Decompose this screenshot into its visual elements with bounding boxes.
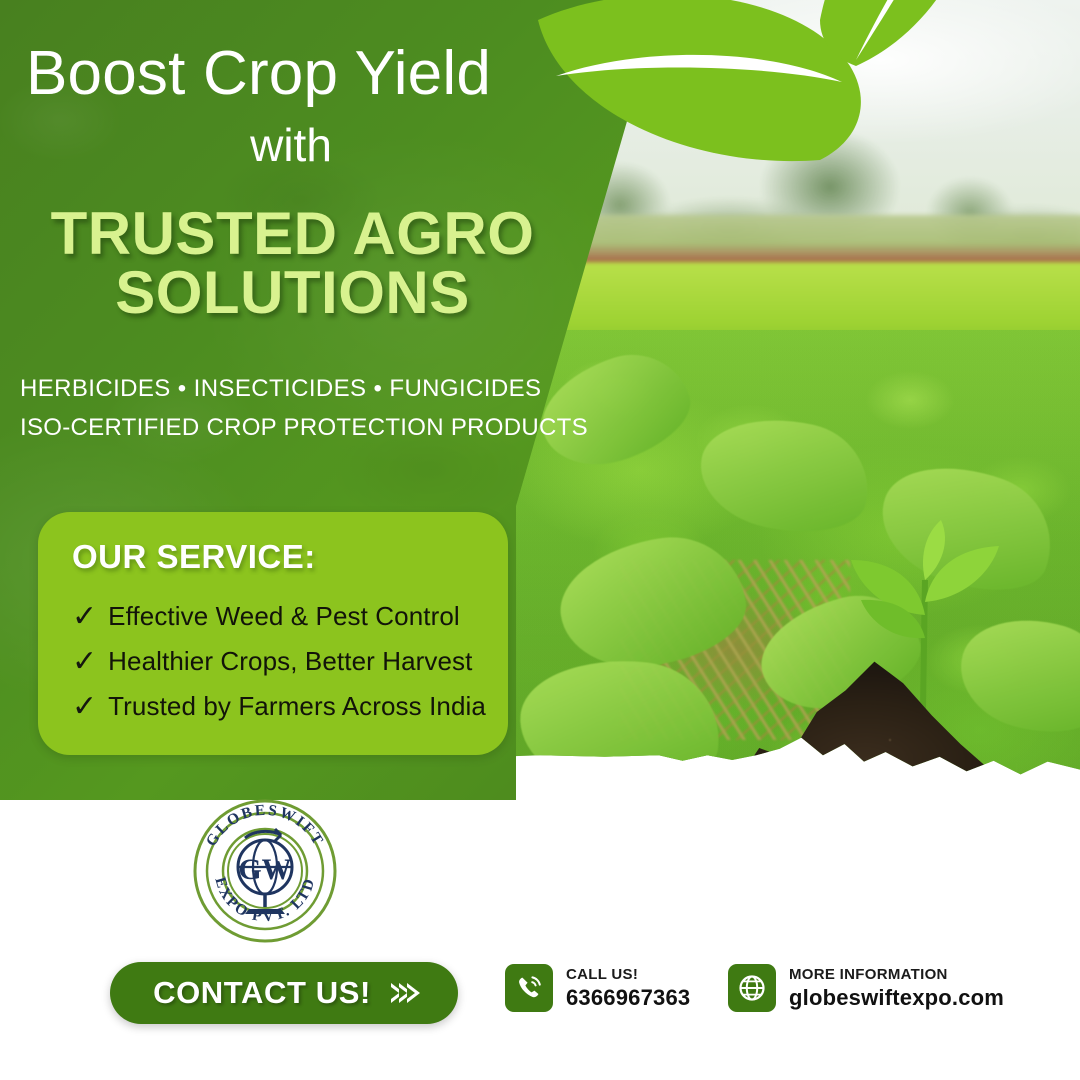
service-list: ✓ Effective Weed & Pest Control ✓ Health… xyxy=(72,594,492,729)
phone-number: 6366967363 xyxy=(566,985,690,1011)
service-card-title: OUR SERVICE: xyxy=(72,538,316,576)
headline-main-line2: SOLUTIONS xyxy=(20,264,565,323)
globe-icon xyxy=(728,964,776,1012)
logo-monogram: GW xyxy=(238,853,291,886)
contact-us-button[interactable]: CONTACT US! xyxy=(110,962,458,1024)
list-item: ✓ Healthier Crops, Better Harvest xyxy=(72,639,492,684)
call-label: CALL US! xyxy=(566,966,690,983)
chevron-right-icon xyxy=(391,983,415,1003)
poster-canvas: Boost Crop Yield with TRUSTED AGRO SOLUT… xyxy=(0,0,1080,1080)
contact-us-label: CONTACT US! xyxy=(153,975,371,1011)
check-icon: ✓ xyxy=(72,692,97,722)
service-card: OUR SERVICE: ✓ Effective Weed & Pest Con… xyxy=(38,512,508,755)
list-item: ✓ Trusted by Farmers Across India xyxy=(72,684,492,729)
logo-top-arc-text: GLOBESWIFT xyxy=(203,802,327,850)
headline-main-line1: TRUSTED AGRO xyxy=(20,205,565,264)
product-categories: HERBICIDES • INSECTICIDES • FUNGICIDES xyxy=(20,375,580,403)
headline-connector: with xyxy=(26,118,556,172)
list-item-label: Trusted by Farmers Across India xyxy=(108,691,486,722)
website-contact-block[interactable]: MORE INFORMATION globeswiftexpo.com xyxy=(728,964,1004,1012)
company-logo: GW GLOBESWIFT EXPO PVT. LTD xyxy=(189,793,341,945)
check-icon: ✓ xyxy=(72,602,97,632)
certification-note: ISO-CERTIFIED CROP PROTECTION PRODUCTS xyxy=(20,414,600,442)
page-title: Boost Crop Yield xyxy=(26,42,556,106)
call-contact-block[interactable]: CALL US! 6366967363 xyxy=(505,964,690,1012)
list-item: ✓ Effective Weed & Pest Control xyxy=(72,594,492,639)
list-item-label: Effective Weed & Pest Control xyxy=(108,601,460,632)
website-label: MORE INFORMATION xyxy=(789,966,1004,983)
headline-main: TRUSTED AGRO SOLUTIONS xyxy=(20,205,565,323)
list-item-label: Healthier Crops, Better Harvest xyxy=(108,646,472,677)
check-icon: ✓ xyxy=(72,647,97,677)
phone-icon xyxy=(505,964,553,1012)
website-url: globeswiftexpo.com xyxy=(789,985,1004,1011)
leaf-decoration xyxy=(520,0,1000,170)
